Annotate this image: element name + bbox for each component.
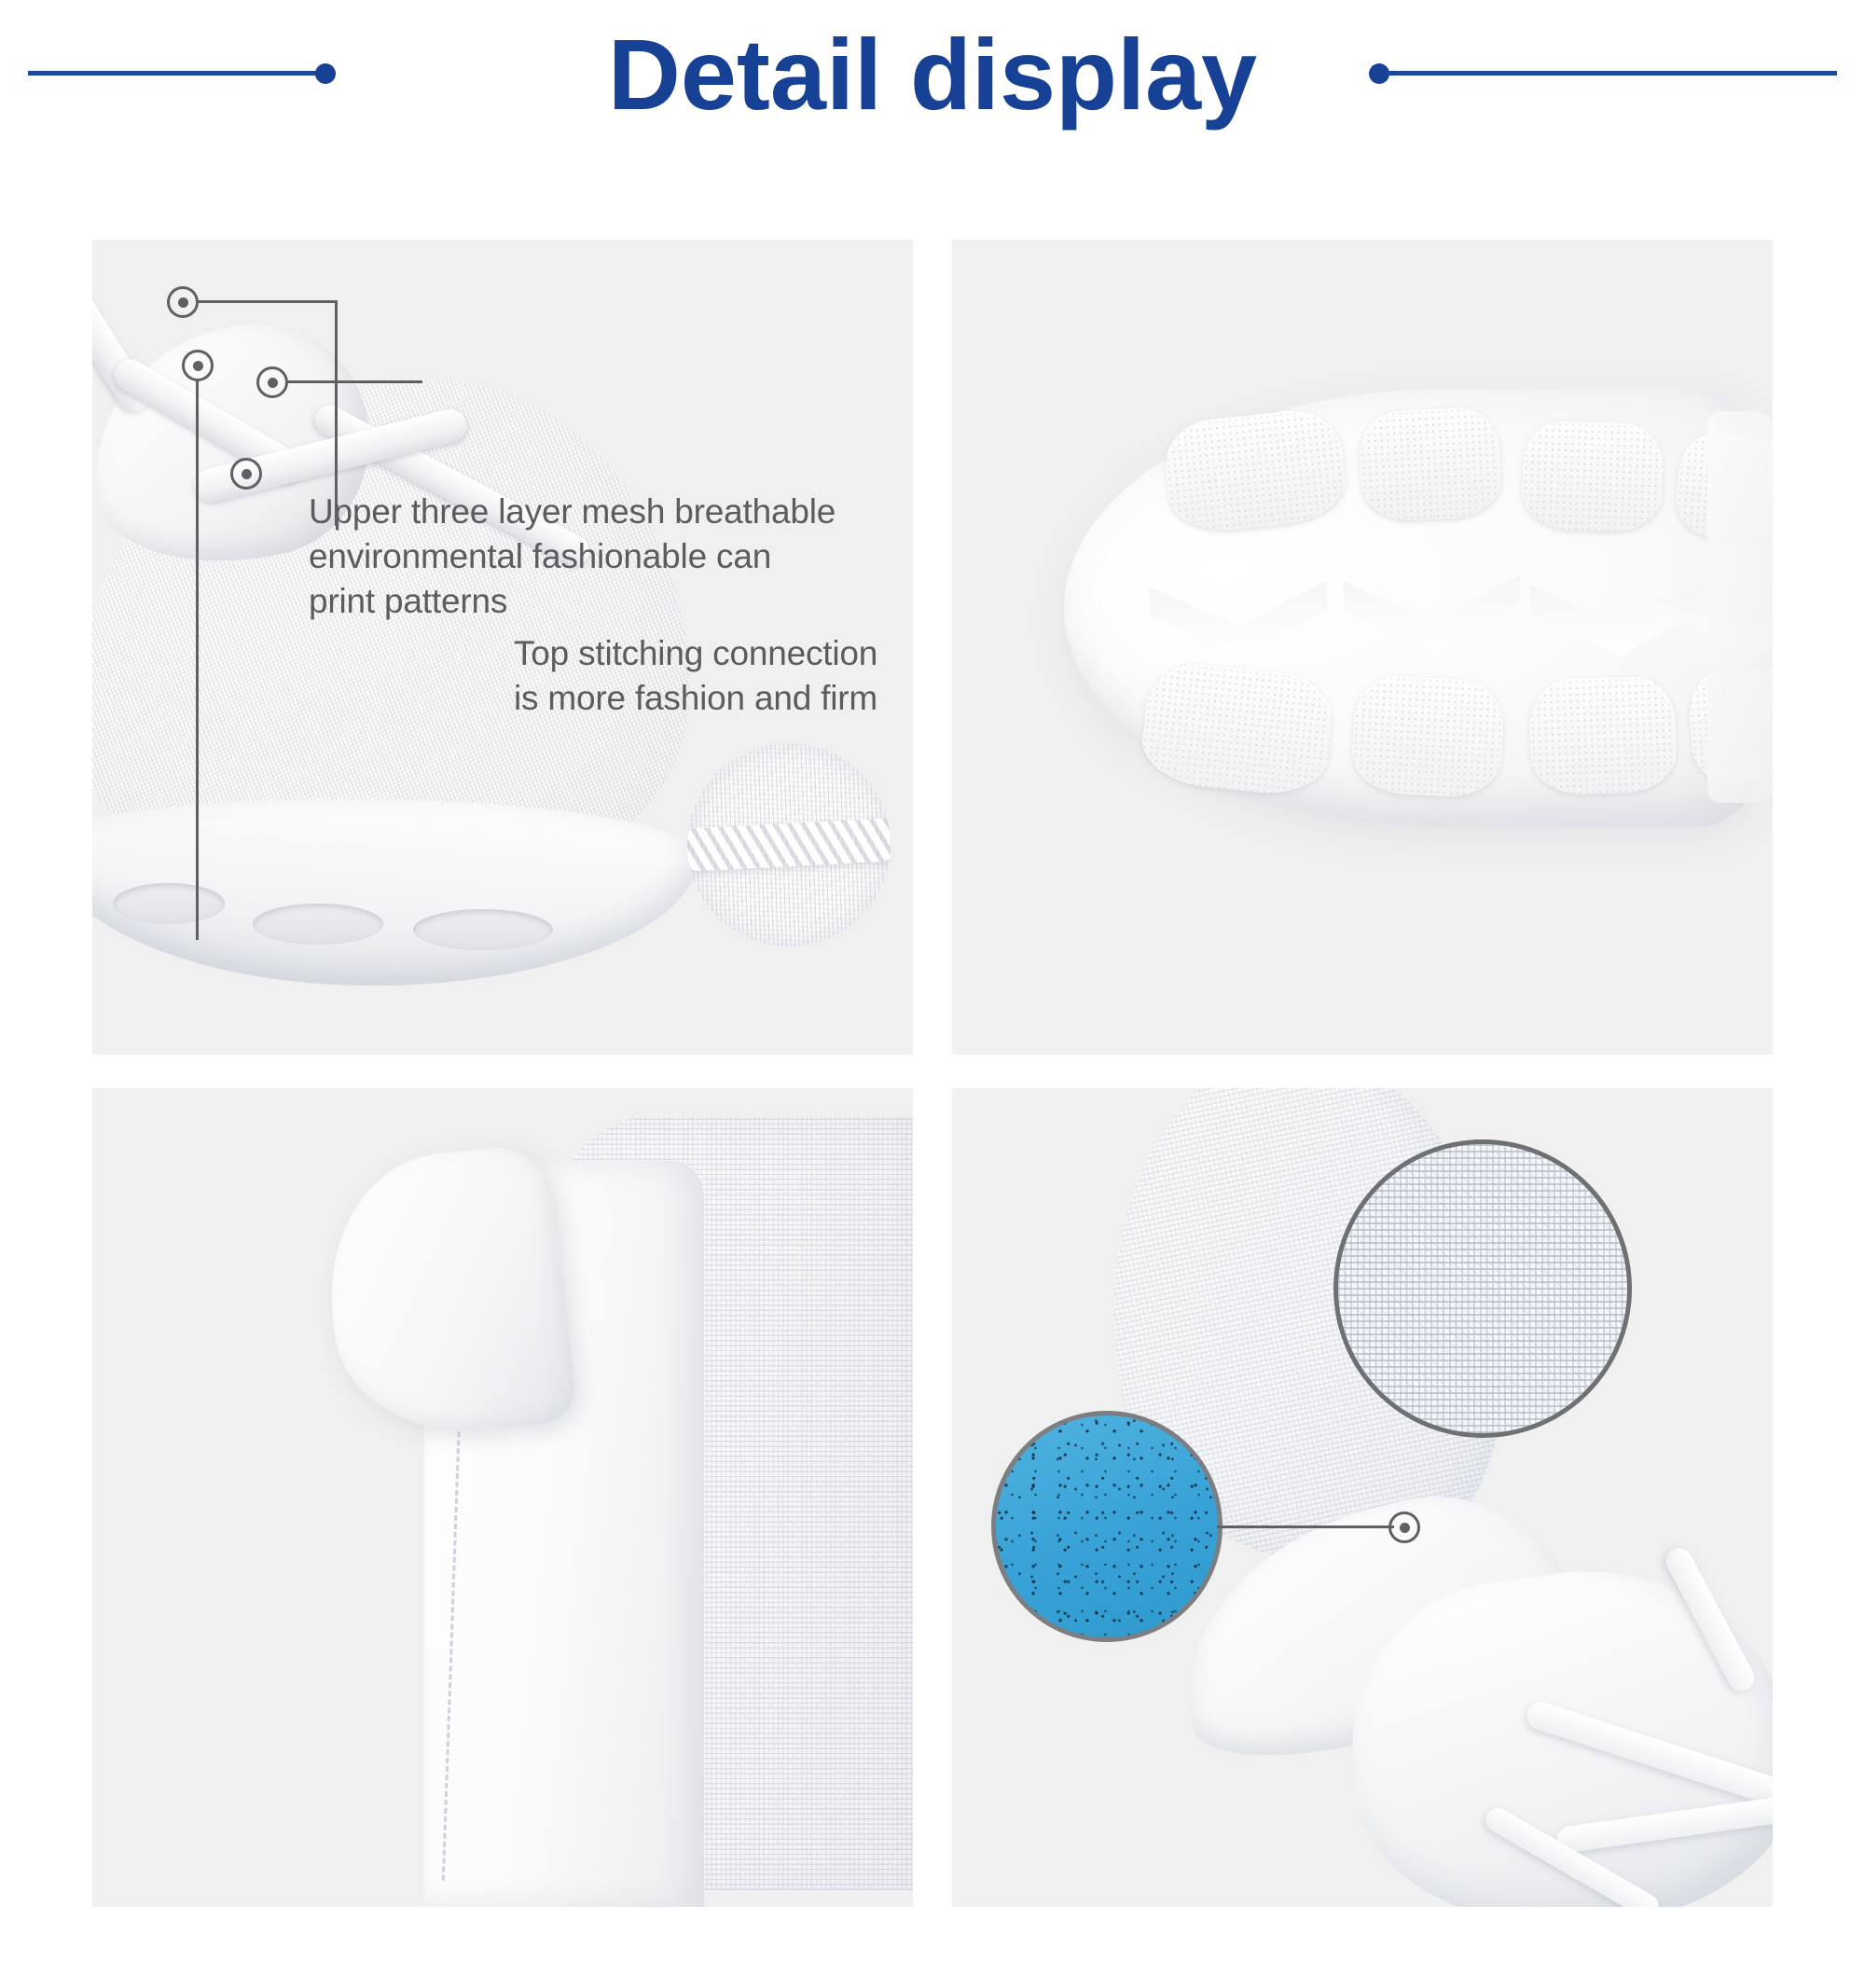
callout-top-stitching-text: Top stitching connection is more fashion… [514,631,913,721]
callout-marker-upper-mesh[interactable] [167,286,199,318]
mesh-fabric-magnifier [1333,1139,1632,1438]
tread-pad-6 [1350,674,1505,799]
leader-line-a-vertical [335,300,338,526]
stitching-detail-magnifier [687,743,891,946]
panel-ribbon-collar: Ribbon Fashionable and firm easy to wear… [92,1088,913,1907]
tread-pad-2 [1358,406,1503,523]
leader-line-c-horizontal [287,380,422,383]
ribbon-pull-tab [317,1142,578,1444]
panel-upper-mesh: Upper three layer mesh breathable enviro… [92,240,913,1055]
page-header: Detail display [0,0,1865,186]
stitch-band-texture [687,818,891,872]
outsole-notch-1 [113,883,225,924]
callout-marker-insole[interactable] [1388,1512,1420,1543]
insole-foam-magnifier [991,1411,1223,1642]
header-rule-right [1388,71,1837,76]
tread-pad-7 [1528,675,1678,795]
shoe-collar-photo [344,1098,913,1907]
outsole-notch-2 [253,904,383,945]
callout-marker-lower-mesh[interactable] [230,458,262,490]
leader-line-a-horizontal [198,300,338,303]
tread-pad-5 [1139,659,1336,799]
leader-line-b-vertical [196,380,199,940]
header-dot-right-icon [1369,63,1389,84]
shoe-outsole-photo [1064,370,1773,855]
outsole-heel-cap [1707,411,1773,803]
callout-marker-top-stitching[interactable] [256,366,288,398]
callout-marker-ribbon-colors[interactable] [182,350,214,381]
tread-pad-3 [1521,420,1665,532]
leader-line-insole [1217,1526,1394,1528]
callout-upper-mesh-text: Upper three layer mesh breathable enviro… [309,490,913,624]
outsole-notch-3 [413,909,553,950]
panel-phylon-sole: Phylon sole Environmental protection sho… [952,240,1773,1055]
